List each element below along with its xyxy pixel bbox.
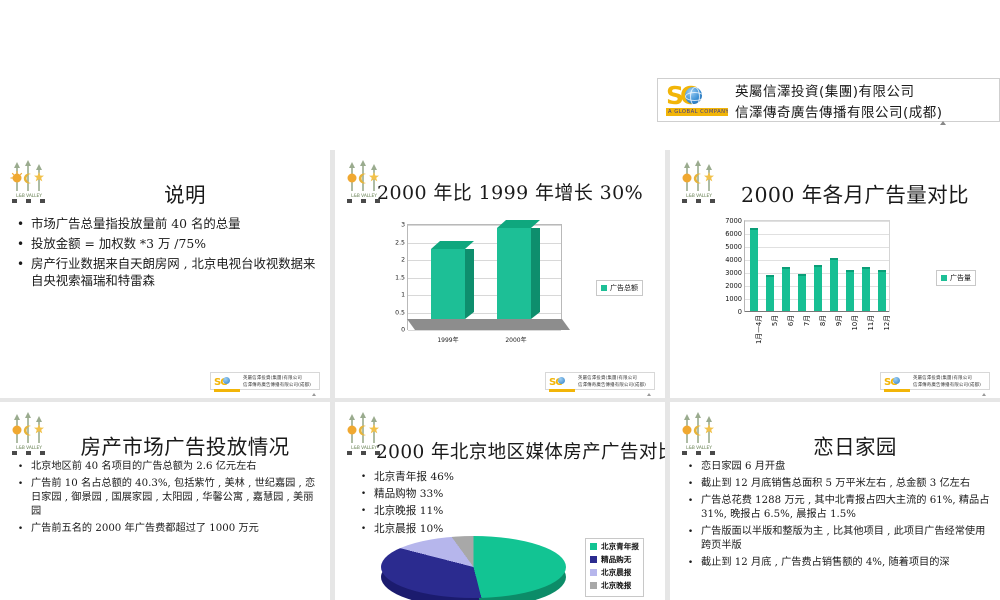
x-tick-label: 1999年 xyxy=(423,335,473,344)
y-tick-label: 2000 xyxy=(725,282,742,290)
x-tick-label: 5月 xyxy=(769,315,779,326)
slide-1-title: 说明 xyxy=(50,178,320,208)
bullet-text: 广告总花费 1288 万元 , 其中北青报占四大主流的 61%, 精品占 31%… xyxy=(701,494,990,522)
x-tick-label: 1月—4月 xyxy=(753,315,763,344)
bullet-item: •广告前 10 名占总额的 40.3%, 包括紫竹 , 美林 , 世纪嘉园 , … xyxy=(16,477,320,519)
slide-footer-logo: SC 英屬信澤投資(集團)有限公司 信澤傳奇廣告傳播有限公司(成都) xyxy=(210,372,320,390)
bullet-dot-icon: • xyxy=(686,525,695,539)
bullet-text: 市场广告总量指投放量前 40 名的总量 xyxy=(31,216,241,233)
bullet-text: 北京晚报 11% xyxy=(374,504,443,518)
bullet-item: •北京地区前 40 名项目的广告总额为 2.6 亿元左右 xyxy=(16,460,320,474)
legend-swatch-icon xyxy=(590,543,597,550)
legend-label: 北京晚报 xyxy=(601,580,631,591)
lb-valley-logo-icon: L&B VALLEY xyxy=(6,410,52,456)
x-tick-label: 7月 xyxy=(801,315,811,326)
footer-caret-icon xyxy=(312,393,316,396)
media-pie-chart[interactable]: 北京青年报 精品购无 北京晨报 北京晚报 xyxy=(381,532,581,600)
y-tick-label: 1 xyxy=(401,292,405,299)
bullet-item: •截止到 12 月底销售总面积 5 万平米左右 , 总金额 3 亿左右 xyxy=(686,477,990,491)
bullet-dot-icon: • xyxy=(686,494,695,508)
bullet-item: •广告版面以半版和整版为主 , 比其他项目 , 此项目广告经常使用跨页半版 xyxy=(686,525,990,553)
legend-label: 北京青年报 xyxy=(601,541,639,552)
svg-text:L&B VALLEY: L&B VALLEY xyxy=(351,193,377,199)
footer-caret-icon xyxy=(647,393,651,396)
legend-label: 广告量 xyxy=(950,273,971,283)
caret-down-icon xyxy=(940,121,946,125)
logo-tagline: A GLOBAL COMPANY xyxy=(666,108,728,116)
lb-valley-logo-icon: L&B VALLEY xyxy=(676,410,722,456)
y-tick-label: 4000 xyxy=(725,256,742,264)
bullet-item: •北京晚报 11% xyxy=(359,504,655,518)
x-tick-label: 11月 xyxy=(865,315,875,330)
bullet-text: 截止到 12 月底销售总面积 5 万平米左右 , 总金额 3 亿左右 xyxy=(701,477,970,491)
pie-legend: 北京青年报 精品购无 北京晨报 北京晚报 xyxy=(585,538,644,597)
slide-5-title: 2000 年北京地区媒体房产广告对比 xyxy=(376,438,655,464)
x-tick-label: 8月 xyxy=(817,315,827,326)
bullet-dot-icon: • xyxy=(686,477,695,491)
bullet-item: •恋日家园 6 月开盘 xyxy=(686,460,990,474)
bar-month-2[interactable] xyxy=(766,277,774,311)
footer-company-line2: 信澤傳奇廣告傳播有限公司(成都) xyxy=(578,382,646,388)
y-tick-label: 2 xyxy=(401,257,405,264)
y-tick-label: 5000 xyxy=(725,243,742,251)
bullet-text: 房产行业数据来自天朗房网 , 北京电视台收视数据来自央视索福瑞和特雷森 xyxy=(31,256,320,289)
legend-row: 北京青年报 xyxy=(590,541,639,552)
footer-company-line1: 英屬信澤投資(集團)有限公司 xyxy=(578,375,646,381)
bullet-item: •市场广告总量指投放量前 40 名的总量 xyxy=(16,216,320,233)
slide-grid: L&B VALLEY 说明 •市场广告总量指投放量前 40 名的总量 •投放金额… xyxy=(0,150,1000,600)
bullet-item: •广告前五名的 2000 年广告费都超过了 1000 万元 xyxy=(16,522,320,536)
bullet-dot-icon: • xyxy=(359,522,368,536)
bullet-text: 北京青年报 46% xyxy=(374,470,454,484)
bar-2000[interactable] xyxy=(497,228,531,319)
slide-1-bullets: •市场广告总量指投放量前 40 名的总量 •投放金额 = 加权数 *3 万 /7… xyxy=(16,216,320,292)
bullet-dot-icon: • xyxy=(359,470,368,484)
footer-company-line1: 英屬信澤投資(集團)有限公司 xyxy=(243,375,311,381)
slide-6-bullets: •恋日家园 6 月开盘 •截止到 12 月底销售总面积 5 万平米左右 , 总金… xyxy=(686,460,990,573)
bullet-item: •北京青年报 46% xyxy=(359,470,655,484)
legend-swatch-icon xyxy=(590,569,597,576)
y-tick-label: 1000 xyxy=(725,295,742,303)
globe-icon xyxy=(685,87,702,104)
slide-footer-logo: SC 英屬信澤投資(集團)有限公司 信澤傳奇廣告傳播有限公司(成都) xyxy=(880,372,990,390)
y-tick-label: 7000 xyxy=(725,217,742,225)
svg-text:L&B VALLEY: L&B VALLEY xyxy=(686,193,712,199)
bar-month-4[interactable] xyxy=(798,276,806,311)
bullet-dot-icon: • xyxy=(686,556,695,570)
legend-label: 北京晨报 xyxy=(601,567,631,578)
bar-month-6[interactable] xyxy=(830,260,838,311)
lb-valley-logo-icon: L&B VALLEY xyxy=(676,158,722,204)
bullet-dot-icon: • xyxy=(16,256,25,273)
bar-month-1[interactable] xyxy=(750,230,758,311)
slide-1-shuoming[interactable]: L&B VALLEY 说明 •市场广告总量指投放量前 40 名的总量 •投放金额… xyxy=(0,150,330,398)
company-name-line1: 英屬信澤投資(集團)有限公司 xyxy=(735,80,943,100)
growth-bar-chart[interactable]: 3 2.5 2 1.5 1 0.5 0 1999年 2000年 xyxy=(379,224,579,346)
chart-legend: 广告总额 xyxy=(596,280,643,296)
footer-caret-icon xyxy=(982,393,986,396)
footer-company-line2: 信澤傳奇廣告傳播有限公司(成都) xyxy=(913,382,981,388)
bullet-text: 精品购物 33% xyxy=(374,487,443,501)
bullet-dot-icon: • xyxy=(16,236,25,253)
x-tick-label: 2000年 xyxy=(491,335,541,344)
bullet-dot-icon: • xyxy=(686,460,695,474)
legend-label: 广告总额 xyxy=(610,283,638,293)
monthly-bar-chart[interactable]: 7000 6000 5000 4000 3000 2000 1000 0 xyxy=(714,220,924,350)
x-tick-label: 12月 xyxy=(881,315,891,330)
y-tick-label: 3 xyxy=(401,222,405,229)
company-name-block: 英屬信澤投資(集團)有限公司 信澤傳奇廣告傳播有限公司(成都) xyxy=(735,80,943,121)
bar-month-9[interactable] xyxy=(878,272,886,311)
bullet-text: 北京地区前 40 名项目的广告总额为 2.6 亿元左右 xyxy=(31,460,257,474)
sc-footer-mark-icon: SC xyxy=(549,370,575,392)
legend-row: 北京晚报 xyxy=(590,580,639,591)
y-tick-label: 0.5 xyxy=(395,310,405,317)
slide-5-bullets: •北京青年报 46% •精品购物 33% •北京晚报 11% •北京晨报 10% xyxy=(359,470,655,539)
bullet-dot-icon: • xyxy=(16,460,25,474)
x-tick-label: 10月 xyxy=(849,315,859,330)
slide-2-growth-chart[interactable]: L&B VALLEY 2000 年比 1999 年增长 30% 3 2.5 2 xyxy=(335,150,665,398)
legend-row: 精品购无 xyxy=(590,554,639,565)
company-logo-box: S C A GLOBAL COMPANY 英屬信澤投資(集團)有限公司 信澤傳奇… xyxy=(657,78,1000,122)
svg-text:L&B VALLEY: L&B VALLEY xyxy=(686,445,712,451)
bullet-dot-icon: • xyxy=(16,522,25,536)
bullet-dot-icon: • xyxy=(359,504,368,518)
lb-valley-logo-icon: L&B VALLEY xyxy=(6,158,52,204)
svg-text:L&B VALLEY: L&B VALLEY xyxy=(351,445,377,451)
footer-company-line1: 英屬信澤投資(集團)有限公司 xyxy=(913,375,981,381)
bullet-item: •投放金额 = 加权数 *3 万 /75% xyxy=(16,236,320,253)
bar-1999[interactable] xyxy=(431,249,465,319)
bullet-text: 投放金额 = 加权数 *3 万 /75% xyxy=(31,236,206,253)
slide-5-media-pie[interactable]: L&B VALLEY 2000 年北京地区媒体房产广告对比 •北京青年报 46%… xyxy=(335,402,665,600)
presentation-handout-page: S C A GLOBAL COMPANY 英屬信澤投資(集團)有限公司 信澤傳奇… xyxy=(0,0,1000,600)
bullet-item: •广告总花费 1288 万元 , 其中北青报占四大主流的 61%, 精品占 31… xyxy=(686,494,990,522)
sc-logo-mark: S C A GLOBAL COMPANY xyxy=(666,85,728,116)
y-tick-label: 3000 xyxy=(725,269,742,277)
y-tick-label: 6000 xyxy=(725,230,742,238)
bar-month-5[interactable] xyxy=(814,267,822,311)
bullet-text: 截止到 12 月底 , 广告费占销售额的 4%, 随着项目的深 xyxy=(701,556,950,570)
bullet-item: •精品购物 33% xyxy=(359,487,655,501)
bullet-text: 恋日家园 6 月开盘 xyxy=(701,460,785,474)
legend-swatch-icon xyxy=(590,556,597,563)
legend-label: 精品购无 xyxy=(601,554,631,565)
x-tick-label: 6月 xyxy=(785,315,795,326)
svg-text:L&B VALLEY: L&B VALLEY xyxy=(16,445,42,451)
y-tick-label: 0 xyxy=(738,308,742,316)
legend-swatch-icon xyxy=(590,582,597,589)
bullet-dot-icon: • xyxy=(16,216,25,233)
slide-6-lianri-jiayuan[interactable]: L&B VALLEY 恋日家园 •恋日家园 6 月开盘 •截止到 12 月底销售… xyxy=(670,402,1000,600)
bullet-dot-icon: • xyxy=(359,487,368,501)
chart-floor xyxy=(407,319,570,330)
chart-plot-area: 7000 6000 5000 4000 3000 2000 1000 0 xyxy=(744,220,890,312)
slide-4-bullets: •北京地区前 40 名项目的广告总额为 2.6 亿元左右 •广告前 10 名占总… xyxy=(16,460,320,539)
bullet-text: 广告前 10 名占总额的 40.3%, 包括紫竹 , 美林 , 世纪嘉园 , 恋… xyxy=(31,477,320,519)
bullet-dot-icon: • xyxy=(16,477,25,491)
slide-3-monthly-chart[interactable]: L&B VALLEY 2000 年各月广告量对比 7000 6000 xyxy=(670,150,1000,398)
page-header-banner: S C A GLOBAL COMPANY 英屬信澤投資(集團)有限公司 信澤傳奇… xyxy=(0,0,1000,150)
y-tick-label: 2.5 xyxy=(395,239,405,246)
bar-month-8[interactable] xyxy=(862,269,870,311)
bullet-text: 广告版面以半版和整版为主 , 比其他项目 , 此项目广告经常使用跨页半版 xyxy=(701,525,990,553)
slide-6-title: 恋日家园 xyxy=(720,430,990,460)
slide-2-title: 2000 年比 1999 年增长 30% xyxy=(377,178,655,205)
y-tick-label: 0 xyxy=(401,327,405,334)
sc-footer-mark-icon: SC xyxy=(884,370,910,392)
company-name-line2: 信澤傳奇廣告傳播有限公司(成都) xyxy=(735,101,943,121)
bar-month-3[interactable] xyxy=(782,269,790,311)
y-tick-label: 1.5 xyxy=(395,274,405,281)
slide-3-title: 2000 年各月广告量对比 xyxy=(720,178,990,208)
legend-swatch-icon xyxy=(941,275,947,281)
bullet-text: 广告前五名的 2000 年广告费都超过了 1000 万元 xyxy=(31,522,259,536)
bar-month-7[interactable] xyxy=(846,272,854,311)
pie-3d-top xyxy=(381,536,566,598)
legend-row: 北京晨报 xyxy=(590,567,639,578)
bullet-item: •房产行业数据来自天朗房网 , 北京电视台收视数据来自央视索福瑞和特雷森 xyxy=(16,256,320,289)
slide-4-title: 房产市场广告投放情况 xyxy=(50,430,320,460)
legend-swatch-icon xyxy=(601,285,607,291)
x-tick-label: 9月 xyxy=(833,315,843,326)
slide-4-market-situation[interactable]: L&B VALLEY 房产市场广告投放情况 •北京地区前 40 名项目的广告总额… xyxy=(0,402,330,600)
slide-footer-logo: SC 英屬信澤投資(集團)有限公司 信澤傳奇廣告傳播有限公司(成都) xyxy=(545,372,655,390)
svg-text:L&B VALLEY: L&B VALLEY xyxy=(16,193,42,199)
footer-company-line2: 信澤傳奇廣告傳播有限公司(成都) xyxy=(243,382,311,388)
bullet-item: •截止到 12 月底 , 广告费占销售额的 4%, 随着项目的深 xyxy=(686,556,990,570)
sc-footer-mark-icon: SC xyxy=(214,370,240,392)
chart-legend: 广告量 xyxy=(936,270,976,286)
